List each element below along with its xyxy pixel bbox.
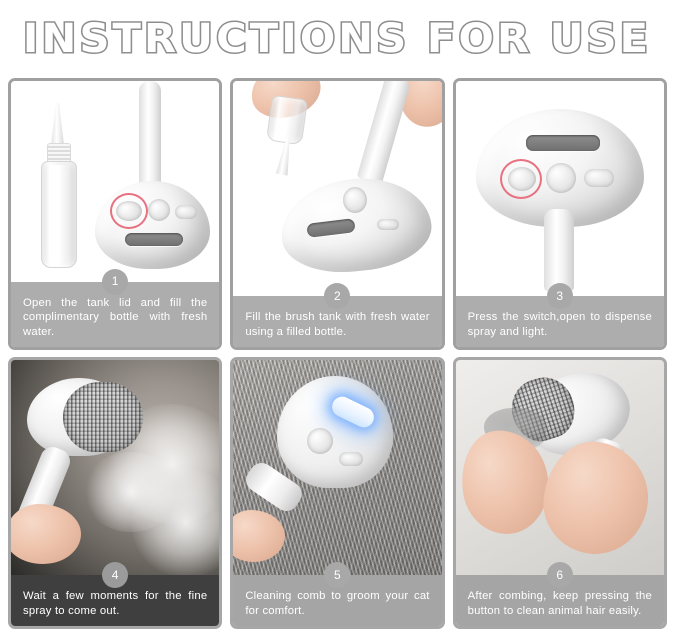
device-vent — [526, 135, 600, 151]
step-panel-1: 1 Open the tank lid and fill the complim… — [8, 78, 222, 350]
device-neck — [357, 81, 412, 184]
step-4-caption: 4 Wait a few moments for the fine spray … — [11, 575, 219, 626]
side-button[interactable] — [175, 205, 197, 219]
step-3-caption-text: Press the switch,open to dispense spray … — [468, 310, 652, 339]
side-button[interactable] — [584, 169, 614, 187]
step-1-image — [11, 81, 219, 282]
device-vent — [125, 233, 183, 246]
refill-bottle — [41, 161, 77, 268]
step-2-caption: 2 Fill the brush tank with fresh water u… — [233, 296, 441, 347]
instruction-steps-grid: 1 Open the tank lid and fill the complim… — [8, 78, 667, 629]
step-6-caption-text: After combing, keep pressing the button … — [468, 589, 652, 618]
step-5-caption: 5 Cleaning comb to groom your cat for co… — [233, 575, 441, 626]
step-2-caption-text: Fill the brush tank with fresh water usi… — [245, 310, 429, 339]
nozzle-button[interactable] — [148, 199, 170, 221]
device-base — [95, 181, 210, 269]
side-button[interactable] — [377, 219, 399, 230]
step-number-badge: 5 — [324, 562, 350, 588]
device-neck — [139, 81, 161, 193]
step-3-image — [456, 81, 664, 296]
page-header: INSTRUCTIONS FOR USE — [0, 0, 675, 78]
device-neck — [544, 209, 574, 291]
highlight-ring-icon — [110, 193, 148, 229]
step-number-badge: 6 — [547, 562, 573, 588]
step-number-badge: 3 — [547, 283, 573, 309]
step-6-image — [456, 360, 664, 575]
step-panel-6: 6 After combing, keep pressing the butto… — [453, 357, 667, 629]
brush-head — [63, 382, 143, 452]
step-4-image — [11, 360, 219, 575]
step-number-badge: 1 — [102, 269, 128, 295]
step-6-caption: 6 After combing, keep pressing the butto… — [456, 575, 664, 626]
step-4-caption-text: Wait a few moments for the fine spray to… — [23, 589, 207, 618]
step-panel-2: 2 Fill the brush tank with fresh water u… — [230, 78, 444, 350]
step-panel-4: 4 Wait a few moments for the fine spray … — [8, 357, 222, 629]
step-5-image — [233, 360, 441, 575]
step-number-badge: 2 — [324, 283, 350, 309]
step-panel-3: 3 Press the switch,open to dispense spra… — [453, 78, 667, 350]
step-3-caption: 3 Press the switch,open to dispense spra… — [456, 296, 664, 347]
device-body — [277, 376, 393, 488]
step-2-image — [233, 81, 441, 296]
nozzle-button[interactable] — [546, 163, 576, 193]
side-button[interactable] — [339, 452, 363, 466]
step-5-caption-text: Cleaning comb to groom your cat for comf… — [245, 589, 429, 618]
highlight-ring-icon — [500, 159, 542, 199]
step-1-caption-text: Open the tank lid and fill the complimen… — [23, 296, 207, 340]
bottle-tip-icon — [51, 103, 64, 145]
step-1-caption: 1 Open the tank lid and fill the complim… — [11, 282, 219, 348]
step-panel-5: 5 Cleaning comb to groom your cat for co… — [230, 357, 444, 629]
page-title: INSTRUCTIONS FOR USE — [23, 16, 651, 62]
step-number-badge: 4 — [102, 562, 128, 588]
